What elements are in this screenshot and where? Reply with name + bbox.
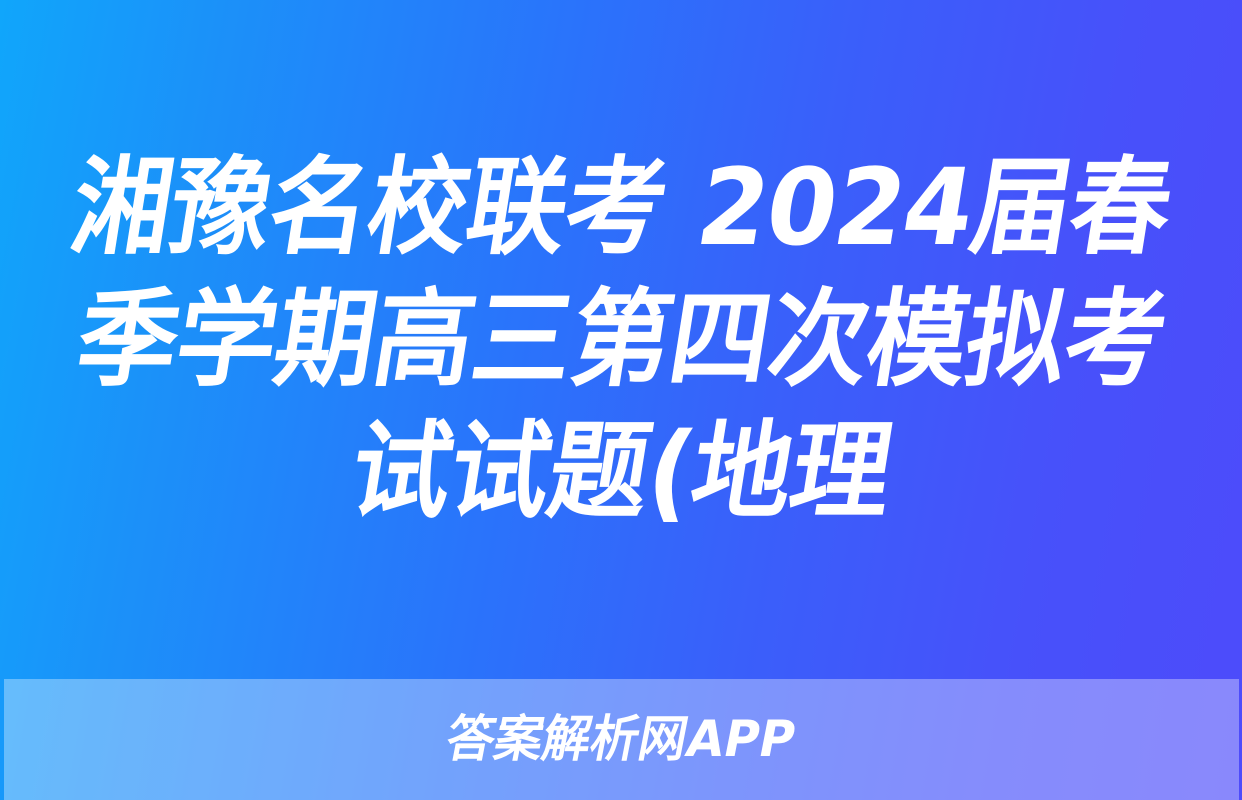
title-line-2: 季学期高三第四次模拟考 [68,274,1175,406]
title-block: 湘豫名校联考 2024届春 季学期高三第四次模拟考 试试题(地理 [0,0,1242,680]
footer-overlay-band [4,679,1239,800]
title-line-1: 湘豫名校联考 2024届春 [62,142,1180,274]
cover-image: 湘豫名校联考 2024届春 季学期高三第四次模拟考 试试题(地理 答案解析网AP… [0,0,1242,800]
title-line-3: 试试题(地理 [341,406,900,538]
